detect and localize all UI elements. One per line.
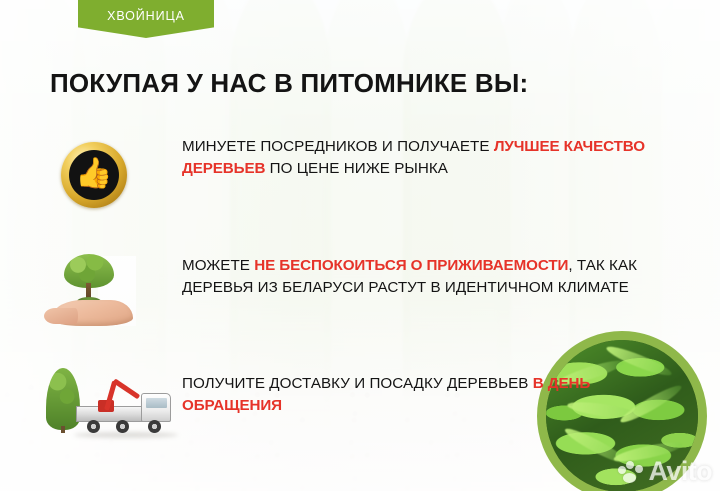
crane-arm-upper bbox=[113, 378, 141, 399]
highlight-text: НЕ БЕСПОКОИТЬСЯ О ПРИЖИВАЕМОСТИ bbox=[254, 257, 568, 274]
hand-holding-tree-icon bbox=[56, 252, 136, 330]
plain-text: МОЖЕТЕ bbox=[182, 257, 254, 274]
truck-wheel bbox=[116, 420, 129, 433]
benefit-text-2: МОЖЕТЕ НЕ БЕСПОКОИТЬСЯ О ПРИЖИВАЕМОСТИ, … bbox=[182, 255, 662, 298]
benefit-list: 👍 МИНУЕТЕ ПОСРЕДНИКОВ И ПОЛУЧАЕТЕ ЛУЧШЕЕ… bbox=[0, 0, 720, 491]
medal-inner-ring: 👍 bbox=[69, 150, 119, 200]
truck-shadow bbox=[74, 432, 178, 438]
benefit-text-1: МИНУЕТЕ ПОСРЕДНИКОВ И ПОЛУЧАЕТЕ ЛУЧШЕЕ К… bbox=[182, 136, 662, 179]
gold-medal-thumbs-up-icon: 👍 bbox=[61, 142, 127, 208]
crane-truck-tree-icon bbox=[40, 366, 180, 446]
plain-text: ПОЛУЧИТЕ ДОСТАВКУ И ПОСАДКУ ДЕРЕВЬЕВ bbox=[182, 375, 533, 392]
wrist bbox=[44, 308, 78, 324]
benefit-text-3: ПОЛУЧИТЕ ДОСТАВКУ И ПОСАДКУ ДЕРЕВЬЕВ В Д… bbox=[182, 373, 662, 416]
truck-wheel bbox=[148, 420, 161, 433]
conifer-tree bbox=[46, 368, 80, 430]
truck-cab bbox=[141, 393, 171, 422]
plain-text: ПО ЦЕНЕ НИЖЕ РЫНКА bbox=[265, 160, 448, 177]
promo-banner: ХВОЙНИЦА ПОКУПАЯ У НАС В ПИТОМНИКЕ ВЫ: 👍… bbox=[0, 0, 720, 491]
thumbs-up-glyph: 👍 bbox=[75, 159, 112, 189]
plain-text: МИНУЕТЕ ПОСРЕДНИКОВ И ПОЛУЧАЕТЕ bbox=[182, 138, 494, 155]
brand-ribbon-label: ХВОЙНИЦА bbox=[107, 9, 185, 23]
conifer-stem bbox=[61, 426, 65, 433]
truck-wheel bbox=[87, 420, 100, 433]
